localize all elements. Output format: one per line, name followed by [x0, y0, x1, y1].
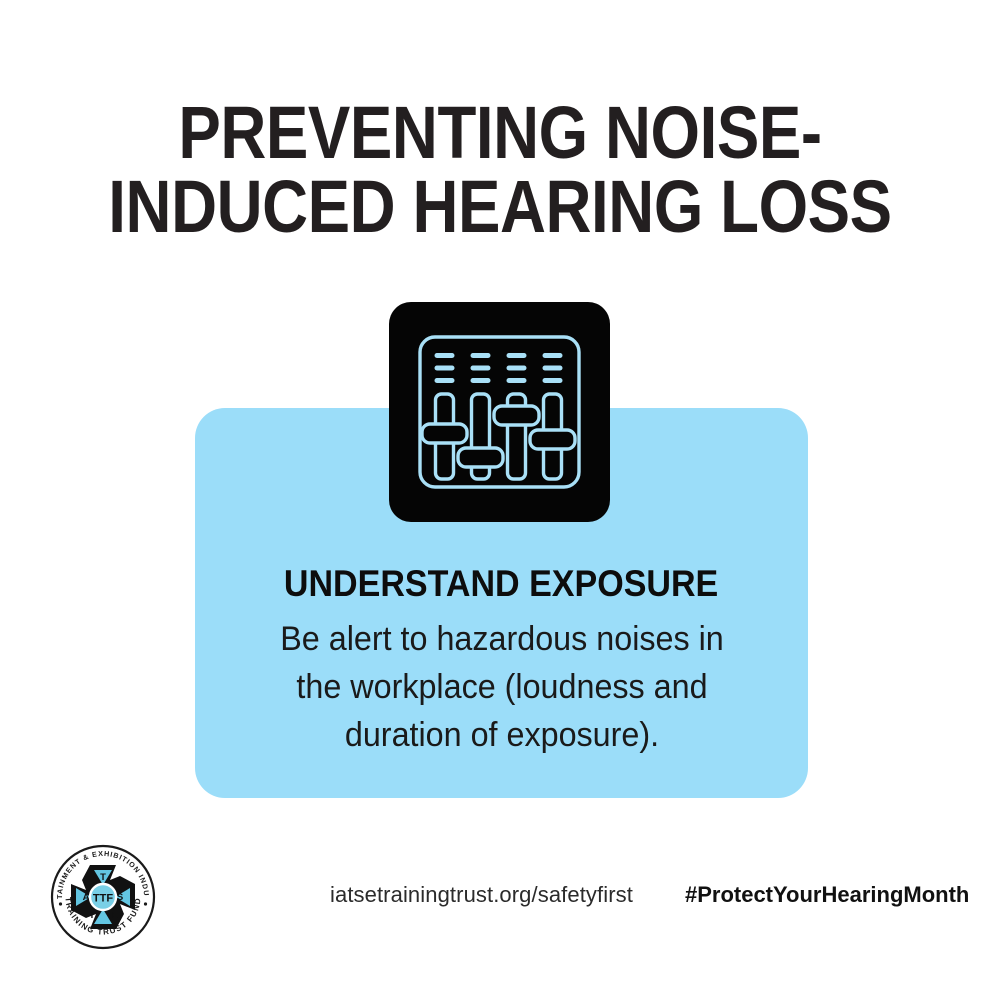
svg-text:T: T [100, 872, 106, 883]
campaign-hashtag[interactable]: #ProtectYourHearingMonth [685, 882, 969, 908]
svg-text:I: I [91, 910, 94, 921]
website-url[interactable]: iatsetrainingtrust.org/safetyfirst [330, 882, 633, 908]
mixing-console-faders-icon [389, 302, 610, 522]
iatse-training-trust-fund-logo: ENTERTAINMENT & EXHIBITION INDUSTRIES TR… [48, 842, 158, 952]
svg-text:S: S [117, 892, 123, 903]
footer-text-group: iatsetrainingtrust.org/safetyfirst #Prot… [330, 882, 960, 908]
logo-svg: ENTERTAINMENT & EXHIBITION INDUSTRIES TR… [48, 842, 158, 952]
footer: ENTERTAINMENT & EXHIBITION INDUSTRIES TR… [0, 838, 1000, 958]
card-heading: UNDERSTAND EXPOSURE [284, 565, 718, 603]
card-body-text: Be alert to hazardous noises in the work… [278, 615, 725, 759]
title-line-2: INDUCED HEARING LOSS [70, 170, 930, 244]
title-line-1: PREVENTING NOISE- [70, 96, 930, 170]
svg-text:A: A [83, 892, 90, 903]
svg-text:E: E [112, 910, 118, 921]
page-title: PREVENTING NOISE- INDUCED HEARING LOSS [0, 96, 1000, 244]
poster-canvas: PREVENTING NOISE- INDUCED HEARING LOSS U… [0, 0, 1000, 1000]
faders-icon-svg [389, 302, 610, 522]
logo-center-text: TTF [93, 893, 113, 905]
